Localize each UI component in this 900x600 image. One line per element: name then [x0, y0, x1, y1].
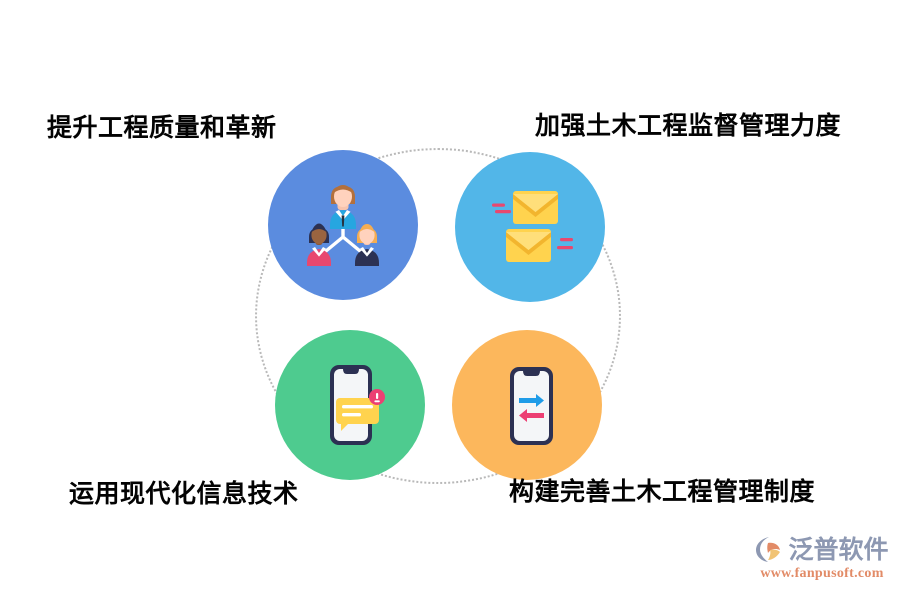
- envelopes-icon: [478, 175, 582, 279]
- watermark-brand-text: 泛普软件: [788, 537, 888, 562]
- label-node-mail: 加强土木工程监督管理力度: [535, 112, 841, 140]
- watermark-url: www.fanpusoft.com: [760, 566, 883, 582]
- label-node-chat: 运用现代化信息技术: [69, 480, 299, 508]
- label-node-transfer: 构建完善土木工程管理制度: [509, 478, 815, 506]
- watermark-brand-row: 泛普软件: [755, 536, 888, 563]
- node-circle-team[interactable]: [268, 150, 418, 300]
- label-node-team: 提升工程质量和革新: [47, 114, 277, 142]
- phone-transfer-arrows-icon: [477, 355, 577, 455]
- team-group-icon: [293, 175, 393, 275]
- watermark: 泛普软件 www.fanpusoft.com: [752, 536, 892, 592]
- node-circle-transfer[interactable]: [452, 330, 602, 480]
- phone-chat-notification-icon: [300, 355, 400, 455]
- node-circle-chat[interactable]: [275, 330, 425, 480]
- fanpu-logo-icon: [755, 536, 785, 563]
- node-circle-mail[interactable]: [455, 152, 605, 302]
- infographic-canvas: 提升工程质量和革新 加强土木工程监督管理力度: [0, 0, 900, 600]
